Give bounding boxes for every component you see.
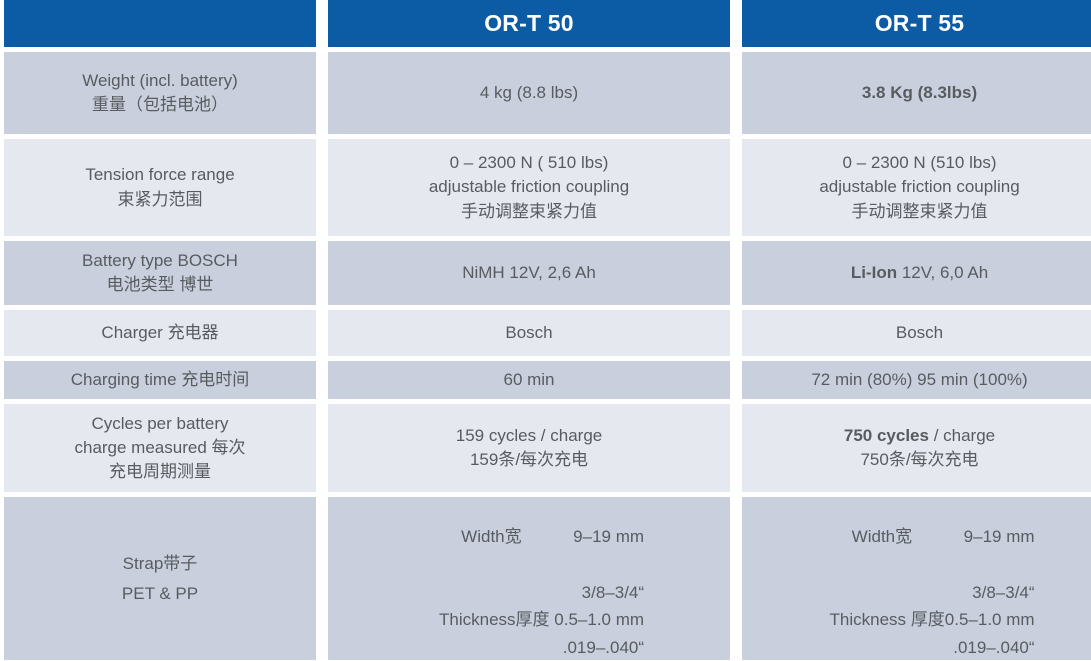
row-label-weight-zh: 重量（包括电池） (92, 93, 228, 117)
column-divider-2 (730, 0, 742, 47)
value-charger-or-t-50: Bosch (505, 321, 552, 345)
strap-width-inches-a: 3/8–3/4“ (414, 579, 644, 607)
specification-comparison-table: OR-T 50 OR-T 55 Weight (incl. battery) 重… (0, 0, 1091, 654)
cell-tension-or-t-55: 0 – 2300 N (510 lbs) adjustable friction… (742, 139, 1091, 236)
column-divider-1 (316, 139, 328, 236)
cell-battery-or-t-50: NiMH 12V, 2,6 Ah (328, 241, 730, 305)
table-row: Charger 充电器 Bosch Bosch (4, 310, 1083, 356)
row-label-battery-type: Battery type BOSCH 电池类型 博世 (4, 241, 316, 305)
value-tension-or-t-50-line3: 手动调整束紧力值 (461, 200, 597, 224)
cell-battery-or-t-55: Li-Ion 12V, 6,0 Ah (742, 241, 1091, 305)
header-cell-or-t-50: OR-T 50 (328, 0, 730, 47)
cell-charging-time-or-t-50: 60 min (328, 361, 730, 399)
value-tension-or-t-50-line1: 0 – 2300 N ( 510 lbs) (450, 151, 609, 175)
strap-thickness-inches-a: .019–.040“ (414, 634, 644, 661)
row-label-tension-zh: 束紧力范围 (117, 188, 202, 212)
row-label-battery-zh: 电池类型 博世 (107, 273, 214, 297)
cell-tension-or-t-50: 0 – 2300 N ( 510 lbs) adjustable frictio… (328, 139, 730, 236)
column-divider-1 (316, 497, 328, 660)
cell-charging-time-or-t-55: 72 min (80%) 95 min (100%) (742, 361, 1091, 399)
cell-cycles-or-t-55: 750 cycles / charge 750条/每次充电 (742, 404, 1091, 492)
value-charger-or-t-55: Bosch (896, 321, 943, 345)
value-tension-or-t-55-line3: 手动调整束紧力值 (851, 200, 987, 224)
strap-width-inches-b: 3/8–3/4“ (804, 579, 1034, 607)
value-battery-or-t-50: NiMH 12V, 2,6 Ah (462, 261, 596, 285)
value-cycles-or-t-55-zh: 750条/每次充电 (860, 448, 978, 472)
value-weight-or-t-50: 4 kg (8.8 lbs) (480, 81, 578, 105)
value-tension-or-t-55-line1: 0 – 2300 N (510 lbs) (842, 151, 996, 175)
header-cell-or-t-55: OR-T 55 (742, 0, 1091, 47)
table-row: Weight (incl. battery) 重量（包括电池） 4 kg (8.… (4, 52, 1083, 134)
column-divider-2 (730, 497, 742, 660)
cell-strap-or-t-50: Width宽9–19 mm 3/8–3/4“ Thickness厚度 0.5–1… (328, 497, 730, 660)
row-label-cycles-en1: Cycles per battery (92, 412, 229, 436)
row-label-cycles: Cycles per battery charge measured 每次 充电… (4, 404, 316, 492)
table-header-row: OR-T 50 OR-T 55 (4, 0, 1083, 47)
strap-thickness-a: Thickness厚度 0.5–1.0 mm (414, 606, 644, 634)
row-label-weight: Weight (incl. battery) 重量（包括电池） (4, 52, 316, 134)
table-row: Battery type BOSCH 电池类型 博世 NiMH 12V, 2,6… (4, 241, 1083, 305)
row-label-weight-en: Weight (incl. battery) (82, 69, 238, 93)
row-label-charging-time-text: Charging time 充电时间 (71, 368, 250, 392)
cell-cycles-or-t-50: 159 cycles / charge 159条/每次充电 (328, 404, 730, 492)
row-label-strap-material: PET & PP (122, 579, 198, 609)
row-label-cycles-zh: 充电周期测量 (109, 460, 211, 484)
header-cell-empty (4, 0, 316, 47)
row-label-cycles-en2: charge measured 每次 (74, 436, 245, 460)
column-divider-2 (730, 404, 742, 492)
strap-width-label-b: Width宽 (852, 523, 964, 551)
strap-thickness-b: Thickness 厚度0.5–1.0 mm (804, 606, 1034, 634)
column-divider-2 (730, 361, 742, 399)
table-row: Charging time 充电时间 60 min 72 min (80%) 9… (4, 361, 1083, 399)
strap-width-value-b: 9–19 mm (964, 523, 1035, 551)
row-label-tension-force: Tension force range 束紧力范围 (4, 139, 316, 236)
column-divider-1 (316, 361, 328, 399)
table-row: Strap带子 PET & PP Width宽9–19 mm 3/8–3/4“ … (4, 497, 1083, 660)
value-charging-time-or-t-50: 60 min (503, 368, 554, 392)
value-cycles-or-t-55-suffix: / charge (929, 426, 995, 445)
row-label-charger-text: Charger 充电器 (101, 321, 218, 345)
cell-weight-or-t-55: 3.8 Kg (8.3lbs) (742, 52, 1091, 134)
cell-charger-or-t-50: Bosch (328, 310, 730, 356)
header-label-or-t-50: OR-T 50 (484, 7, 574, 40)
strap-width-label-a: Width宽 (461, 523, 573, 551)
strap-width-value-a: 9–19 mm (573, 523, 644, 551)
strap-thickness-inches-b: .019–.040“ (804, 634, 1034, 661)
column-divider-1 (316, 241, 328, 305)
row-label-charger: Charger 充电器 (4, 310, 316, 356)
column-divider-2 (730, 241, 742, 305)
value-charging-time-or-t-55: 72 min (80%) 95 min (100%) (811, 368, 1027, 392)
column-divider-1 (316, 0, 328, 47)
header-label-or-t-55: OR-T 55 (875, 7, 965, 40)
column-divider-1 (316, 404, 328, 492)
column-divider-2 (730, 52, 742, 134)
value-cycles-or-t-50-zh: 159条/每次充电 (470, 448, 588, 472)
row-label-strap: Strap带子 PET & PP (4, 497, 316, 660)
value-tension-or-t-50-line2: adjustable friction coupling (429, 175, 629, 199)
value-battery-or-t-55-type: Li-Ion (851, 263, 897, 282)
row-label-battery-en: Battery type BOSCH (82, 249, 238, 273)
cell-charger-or-t-55: Bosch (742, 310, 1091, 356)
value-tension-or-t-55-line2: adjustable friction coupling (819, 175, 1019, 199)
value-battery-or-t-55-spec: 12V, 6,0 Ah (897, 263, 988, 282)
value-weight-or-t-55: 3.8 Kg (8.3lbs) (862, 81, 977, 105)
value-cycles-or-t-50-en: 159 cycles / charge (456, 424, 602, 448)
column-divider-1 (316, 310, 328, 356)
cell-weight-or-t-50: 4 kg (8.8 lbs) (328, 52, 730, 134)
table-row: Cycles per battery charge measured 每次 充电… (4, 404, 1083, 492)
row-label-strap-en: Strap带子 (123, 549, 198, 579)
column-divider-2 (730, 310, 742, 356)
row-label-charging-time: Charging time 充电时间 (4, 361, 316, 399)
column-divider-1 (316, 52, 328, 134)
value-cycles-or-t-55-count: 750 cycles (844, 426, 929, 445)
table-row: Tension force range 束紧力范围 0 – 2300 N ( 5… (4, 139, 1083, 236)
cell-strap-or-t-55: Width宽9–19 mm 3/8–3/4“ Thickness 厚度0.5–1… (742, 497, 1091, 660)
row-label-tension-en: Tension force range (85, 163, 234, 187)
column-divider-2 (730, 139, 742, 236)
